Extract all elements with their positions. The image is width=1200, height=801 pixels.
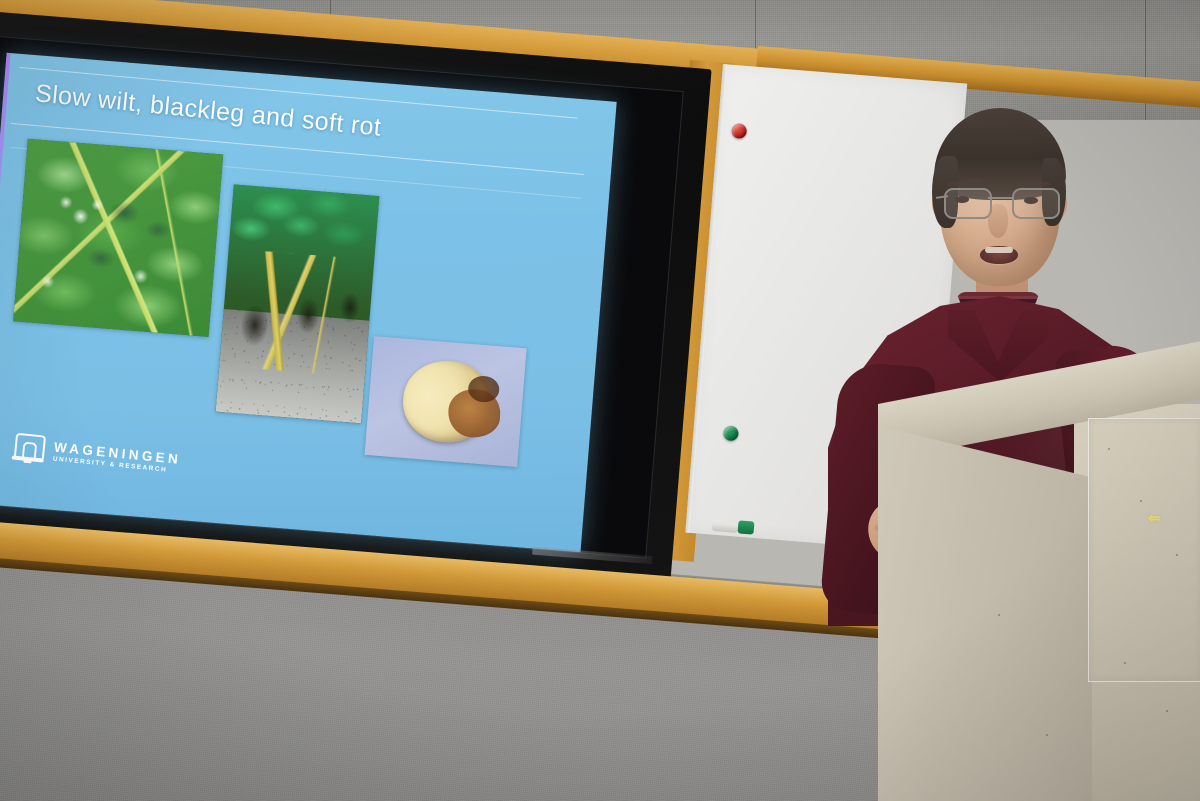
- presentation-slide: Slow wilt, blackleg and soft rot: [0, 53, 617, 553]
- logo-text: WAGENINGEN UNIVERSITY & RESEARCH: [52, 440, 181, 475]
- lectern-arrow-icon: ⇐: [1148, 512, 1174, 525]
- potato-foliage-photo: [13, 139, 223, 337]
- green-marker[interactable]: [738, 520, 755, 534]
- nose: [988, 204, 1008, 238]
- teeth: [985, 247, 1013, 253]
- red-magnet[interactable]: [731, 123, 747, 139]
- lectern-front-face: [878, 426, 1092, 801]
- soft-rot-tuber-photo: [365, 336, 527, 467]
- lectern-panel: [1088, 418, 1200, 682]
- wageningen-logo: WAGENINGEN UNIVERSITY & RESEARCH: [11, 433, 182, 479]
- blackleg-rot-lesions: [219, 253, 374, 378]
- lectern: ⇐: [878, 404, 1200, 801]
- wageningen-arch-mark-icon: [11, 433, 46, 466]
- lecture-room-scene: Slow wilt, blackleg and soft rot: [0, 0, 1200, 801]
- display-screen: Slow wilt, blackleg and soft rot: [0, 10, 712, 613]
- potato-flowers: [13, 139, 223, 337]
- screen-edge-glow: [0, 53, 11, 504]
- green-magnet[interactable]: [723, 425, 739, 441]
- blackleg-stems-photo: [216, 184, 380, 423]
- slide-title: Slow wilt, blackleg and soft rot: [34, 79, 383, 142]
